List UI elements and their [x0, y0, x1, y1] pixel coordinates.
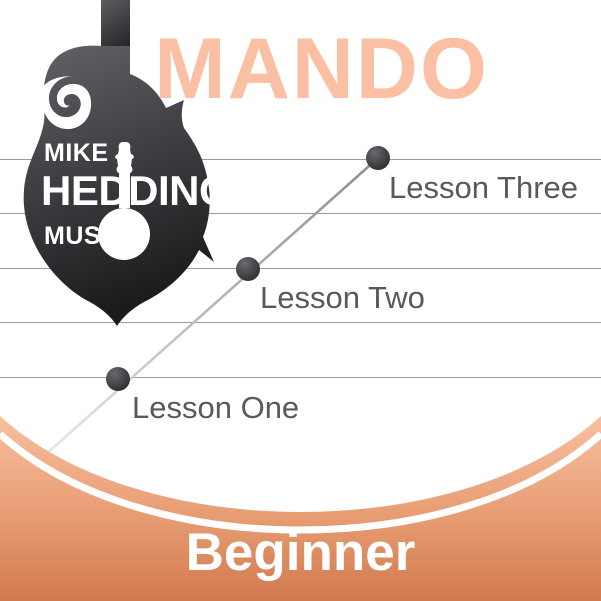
data-label-lesson-two: Lesson Two: [260, 282, 425, 313]
logo-line-2: HEDDING: [41, 167, 231, 214]
mike-hedding-music-logo: MIKE HEDDING MUSIC: [18, 0, 248, 334]
course-thumbnail-card: MANDO Lesson Three Lesson Two Lesson One: [0, 0, 601, 601]
logo-line-1: MIKE: [44, 139, 109, 167]
mandolin-silhouette: MIKE HEDDING MUSIC: [24, 0, 232, 326]
data-point-lesson-one[interactable]: [106, 367, 130, 391]
data-point-lesson-three[interactable]: [366, 146, 390, 170]
data-label-lesson-three: Lesson Three: [389, 172, 578, 203]
logo-line-3: MUSIC: [44, 222, 127, 250]
level-label: Beginner: [0, 526, 601, 579]
